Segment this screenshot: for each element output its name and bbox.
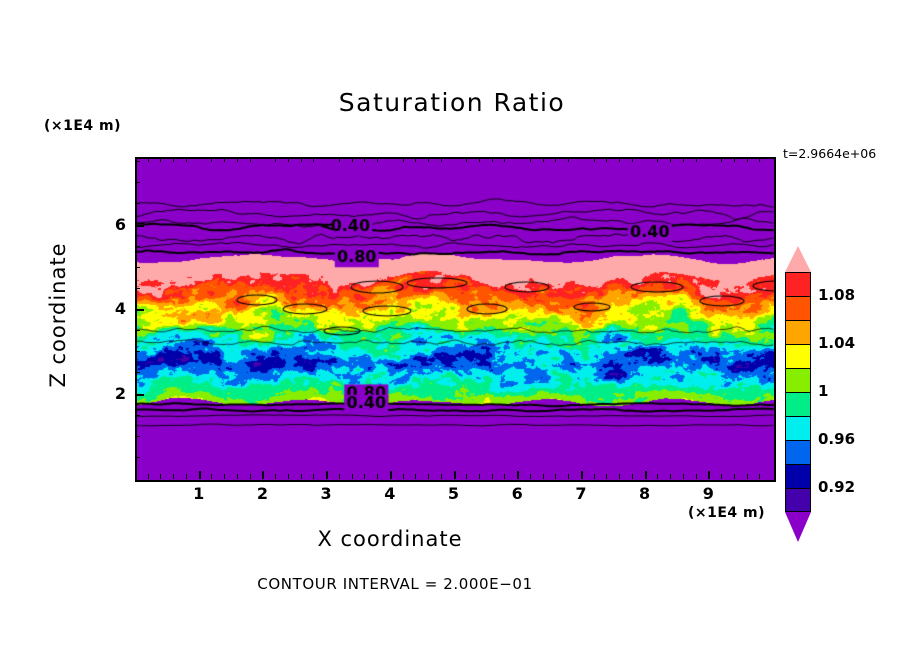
y-axis-minor-tick xyxy=(135,246,140,247)
y-axis-tick xyxy=(135,309,144,311)
x-axis-minor-tick xyxy=(339,474,340,479)
x-axis-minor-tick xyxy=(339,157,340,162)
y-axis-minor-tick xyxy=(135,330,140,331)
x-axis-minor-tick xyxy=(250,474,251,479)
x-axis-minor-tick xyxy=(466,474,467,479)
colorbar-tick-label: 0.92 xyxy=(818,478,855,496)
x-axis-minor-tick xyxy=(148,474,149,479)
x-axis-minor-tick xyxy=(721,157,722,162)
x-axis-minor-tick xyxy=(696,474,697,479)
x-axis-minor-tick xyxy=(186,157,187,162)
x-axis-minor-tick xyxy=(237,157,238,162)
x-axis-minor-tick xyxy=(173,474,174,479)
x-axis-minor-tick xyxy=(619,157,620,162)
colorbar-band xyxy=(785,296,811,320)
x-axis-minor-tick xyxy=(415,474,416,479)
y-axis-tick-label: 6 xyxy=(104,215,126,234)
x-axis-minor-tick xyxy=(657,157,658,162)
x-axis-minor-tick xyxy=(543,157,544,162)
colorbar-tick-label: 1.04 xyxy=(818,334,855,352)
x-axis-minor-tick xyxy=(747,474,748,479)
x-axis-tick-label: 6 xyxy=(502,484,532,503)
x-axis-minor-tick xyxy=(364,157,365,162)
x-axis-minor-tick xyxy=(555,474,556,479)
x-axis-minor-tick xyxy=(275,474,276,479)
contour-plot-area xyxy=(135,157,776,482)
x-axis-minor-tick xyxy=(504,157,505,162)
x-axis-minor-tick xyxy=(403,157,404,162)
x-axis-minor-tick xyxy=(594,157,595,162)
colorbar-band xyxy=(785,464,811,488)
x-axis-minor-tick xyxy=(759,474,760,479)
x-axis-minor-tick xyxy=(403,474,404,479)
x-axis-tick-label: 2 xyxy=(247,484,277,503)
x-axis-tick-label: 1 xyxy=(184,484,214,503)
x-axis-minor-tick xyxy=(696,157,697,162)
colorbar-bottom-arrow xyxy=(785,512,811,542)
x-axis-minor-tick xyxy=(683,157,684,162)
x-axis-minor-tick xyxy=(428,157,429,162)
y-axis-minor-tick xyxy=(135,436,140,437)
x-axis-title: X coordinate xyxy=(0,527,780,551)
colorbar-top-arrow xyxy=(785,246,811,272)
x-axis-minor-tick xyxy=(466,157,467,162)
y-axis-minor-tick xyxy=(135,351,140,352)
x-axis-minor-tick xyxy=(160,474,161,479)
x-axis-minor-tick xyxy=(479,157,480,162)
x-axis-minor-tick xyxy=(492,474,493,479)
x-axis-minor-tick xyxy=(441,157,442,162)
x-axis-tick xyxy=(199,471,201,479)
x-axis-minor-tick xyxy=(173,157,174,162)
page-title: Saturation Ratio xyxy=(0,88,904,117)
x-axis-minor-tick xyxy=(594,474,595,479)
x-axis-unit-label: (×1E4 m) xyxy=(688,505,765,521)
y-axis-title: Z coordinate xyxy=(46,205,70,425)
x-axis-minor-tick xyxy=(492,157,493,162)
x-axis-minor-tick xyxy=(441,474,442,479)
colorbar-band xyxy=(785,368,811,392)
x-axis-minor-tick xyxy=(504,474,505,479)
y-axis-tick-label: 2 xyxy=(104,384,126,403)
x-axis-tick xyxy=(454,471,456,479)
colorbar-band xyxy=(785,488,811,512)
x-axis-minor-tick xyxy=(670,474,671,479)
x-axis-tick-label: 9 xyxy=(693,484,723,503)
x-axis-minor-tick xyxy=(734,157,735,162)
x-axis-tick-label: 3 xyxy=(311,484,341,503)
x-axis-minor-tick xyxy=(211,157,212,162)
time-annotation: t=2.9664e+06 xyxy=(783,146,876,161)
x-axis-minor-tick xyxy=(747,157,748,162)
x-axis-minor-tick xyxy=(632,474,633,479)
colorbar-tick-label: 1.08 xyxy=(818,286,855,304)
x-axis-minor-tick xyxy=(352,157,353,162)
x-axis-minor-tick xyxy=(759,157,760,162)
x-axis-minor-tick xyxy=(632,157,633,162)
x-axis-tick xyxy=(708,471,710,479)
x-axis-minor-tick xyxy=(568,157,569,162)
x-axis-minor-tick xyxy=(275,157,276,162)
colorbar-band xyxy=(785,272,811,296)
x-axis-minor-tick xyxy=(670,157,671,162)
y-axis-tick xyxy=(135,394,144,396)
y-axis-minor-tick xyxy=(135,267,140,268)
y-axis-tick-label: 4 xyxy=(104,299,126,318)
x-axis-minor-tick xyxy=(543,474,544,479)
colorbar-band xyxy=(785,320,811,344)
y-axis-minor-tick xyxy=(135,288,140,289)
x-axis-minor-tick xyxy=(619,474,620,479)
x-axis-minor-tick xyxy=(160,157,161,162)
x-axis-minor-tick xyxy=(415,157,416,162)
x-axis-minor-tick xyxy=(606,157,607,162)
x-axis-tick xyxy=(517,471,519,479)
x-axis-minor-tick xyxy=(734,474,735,479)
x-axis-minor-tick xyxy=(211,474,212,479)
x-axis-minor-tick xyxy=(301,474,302,479)
x-axis-minor-tick xyxy=(250,157,251,162)
x-axis-tick-label: 8 xyxy=(630,484,660,503)
x-axis-minor-tick xyxy=(364,474,365,479)
colorbar-band xyxy=(785,440,811,464)
colorbar-tick-label: 0.96 xyxy=(818,430,855,448)
x-axis-minor-tick xyxy=(186,474,187,479)
x-axis-minor-tick xyxy=(479,474,480,479)
x-axis-minor-tick xyxy=(288,474,289,479)
colorbar-band xyxy=(785,392,811,416)
y-axis-minor-tick xyxy=(135,415,140,416)
colorbar-band xyxy=(785,416,811,440)
x-axis-minor-tick xyxy=(313,157,314,162)
x-axis-minor-tick xyxy=(237,474,238,479)
x-axis-minor-tick xyxy=(313,474,314,479)
y-axis-minor-tick xyxy=(135,372,140,373)
x-axis-minor-tick xyxy=(288,157,289,162)
y-axis-minor-tick xyxy=(135,182,140,183)
y-axis-unit-label: (×1E4 m) xyxy=(44,118,121,134)
x-axis-tick-label: 4 xyxy=(375,484,405,503)
x-axis-tick xyxy=(326,471,328,479)
x-axis-minor-tick xyxy=(301,157,302,162)
y-axis-minor-tick xyxy=(135,203,140,204)
y-axis-minor-tick xyxy=(135,457,140,458)
x-axis-tick-label: 7 xyxy=(566,484,596,503)
x-axis-tick xyxy=(390,471,392,479)
colorbar-band xyxy=(785,344,811,368)
colorbar-tick-label: 1 xyxy=(818,382,828,400)
x-axis-minor-tick xyxy=(721,474,722,479)
x-axis-minor-tick xyxy=(224,157,225,162)
y-axis-tick xyxy=(135,225,144,227)
x-axis-minor-tick xyxy=(224,474,225,479)
x-axis-minor-tick xyxy=(568,474,569,479)
x-axis-minor-tick xyxy=(377,474,378,479)
x-axis-tick xyxy=(262,471,264,479)
x-axis-minor-tick xyxy=(657,474,658,479)
y-axis-minor-tick xyxy=(135,161,140,162)
colorbar xyxy=(785,246,811,542)
x-axis-tick xyxy=(581,471,583,479)
x-axis-tick xyxy=(645,471,647,479)
x-axis-minor-tick xyxy=(683,474,684,479)
contour-field-canvas xyxy=(137,159,774,480)
x-axis-minor-tick xyxy=(530,474,531,479)
x-axis-minor-tick xyxy=(148,157,149,162)
x-axis-minor-tick xyxy=(352,474,353,479)
x-axis-minor-tick xyxy=(555,157,556,162)
x-axis-minor-tick xyxy=(377,157,378,162)
x-axis-minor-tick xyxy=(428,474,429,479)
contour-interval-caption: CONTOUR INTERVAL = 2.000E−01 xyxy=(0,575,790,593)
x-axis-tick-label: 5 xyxy=(439,484,469,503)
x-axis-minor-tick xyxy=(530,157,531,162)
x-axis-minor-tick xyxy=(606,474,607,479)
